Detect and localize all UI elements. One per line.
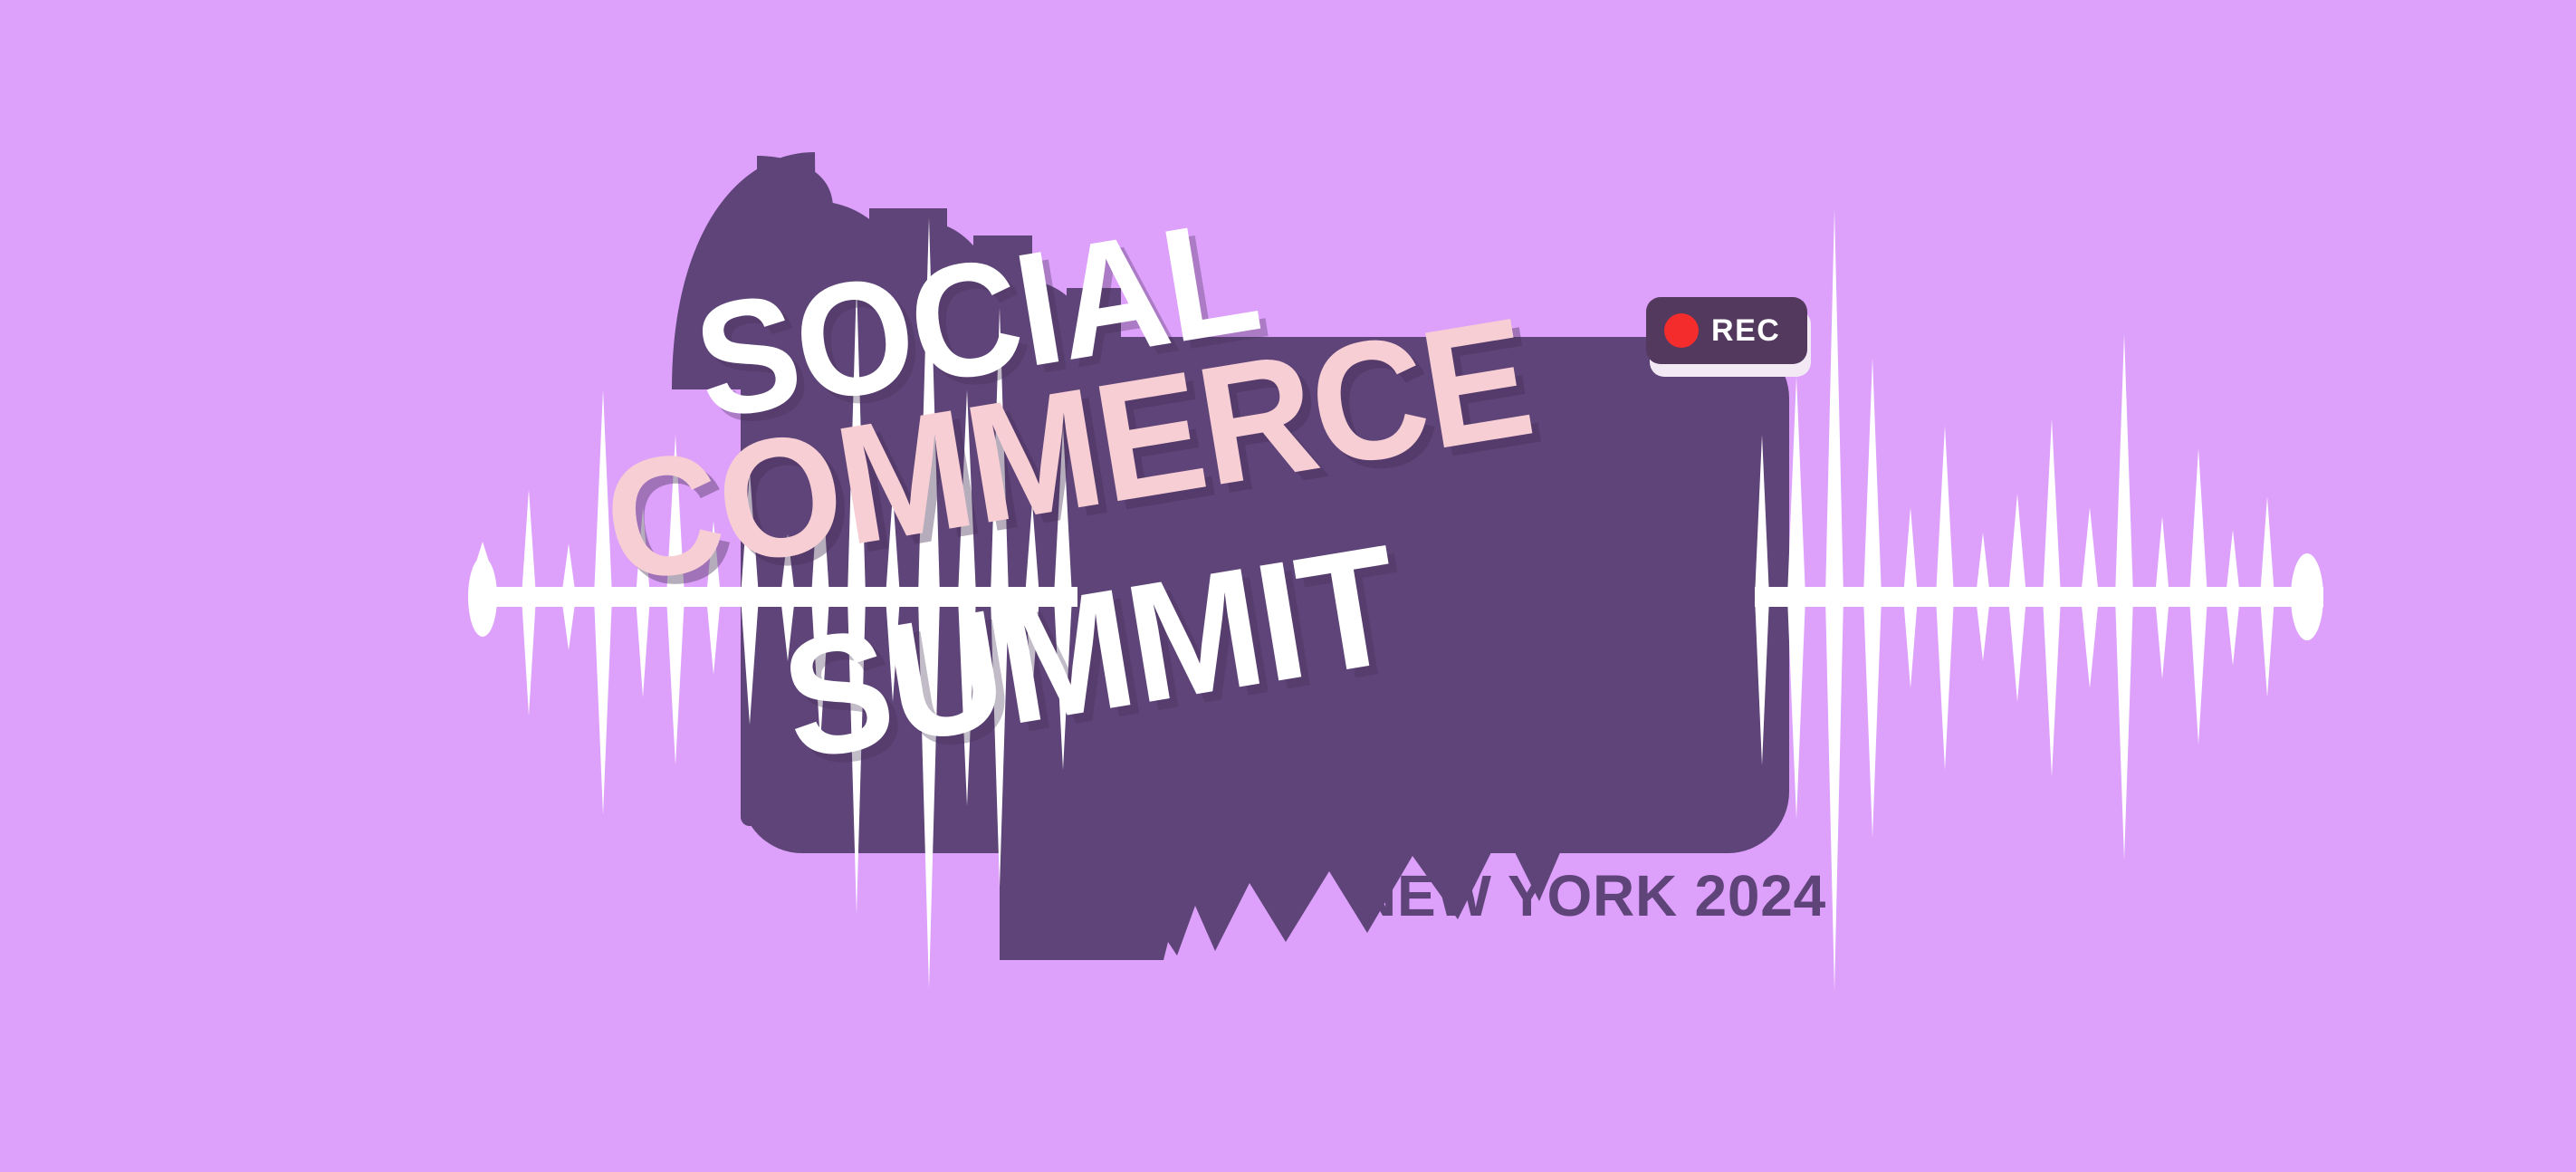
- event-location-year: NEW YORK 2024: [1355, 862, 1826, 929]
- headline-group: SOCIAL COMMERCE SUMMIT: [618, 288, 1958, 886]
- rec-badge-body[interactable]: REC: [1646, 297, 1807, 364]
- rec-badge-label: REC: [1711, 313, 1780, 349]
- record-dot-icon: [1664, 313, 1699, 348]
- rec-badge[interactable]: REC: [1646, 297, 1811, 368]
- poster-canvas: SOCIAL COMMERCE SUMMIT NEW YORK 2024 REC: [0, 0, 2576, 1172]
